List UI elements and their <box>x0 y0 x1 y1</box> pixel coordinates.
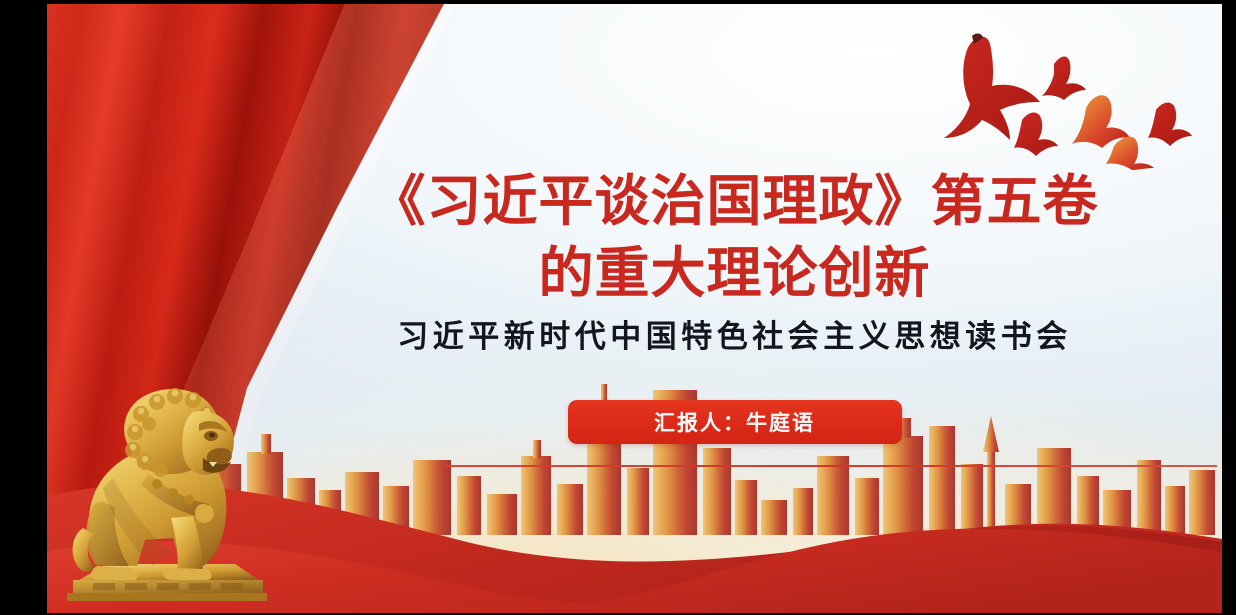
letterbox-bar-right <box>1222 0 1236 615</box>
presenter-badge: 汇报人：牛庭语 <box>568 400 902 444</box>
slide-canvas: 《习近平谈治国理政》第五卷 的重大理论创新 习近平新时代中国特色社会主义思想读书… <box>47 4 1222 613</box>
title-text-group: 《习近平谈治国理政》第五卷 的重大理论创新 习近平新时代中国特色社会主义思想读书… <box>247 4 1222 613</box>
page-subtitle: 习近平新时代中国特色社会主义思想读书会 <box>247 318 1222 355</box>
letterbox-bar-top <box>0 0 1236 4</box>
presentation-slide: 《习近平谈治国理政》第五卷 的重大理论创新 习近平新时代中国特色社会主义思想读书… <box>0 0 1236 615</box>
presenter-badge-label: 汇报人：牛庭语 <box>654 407 815 437</box>
horizontal-divider <box>445 465 1217 467</box>
page-title: 《习近平谈治国理政》第五卷 的重大理论创新 <box>247 166 1222 309</box>
letterbox-bar-left <box>0 0 47 615</box>
